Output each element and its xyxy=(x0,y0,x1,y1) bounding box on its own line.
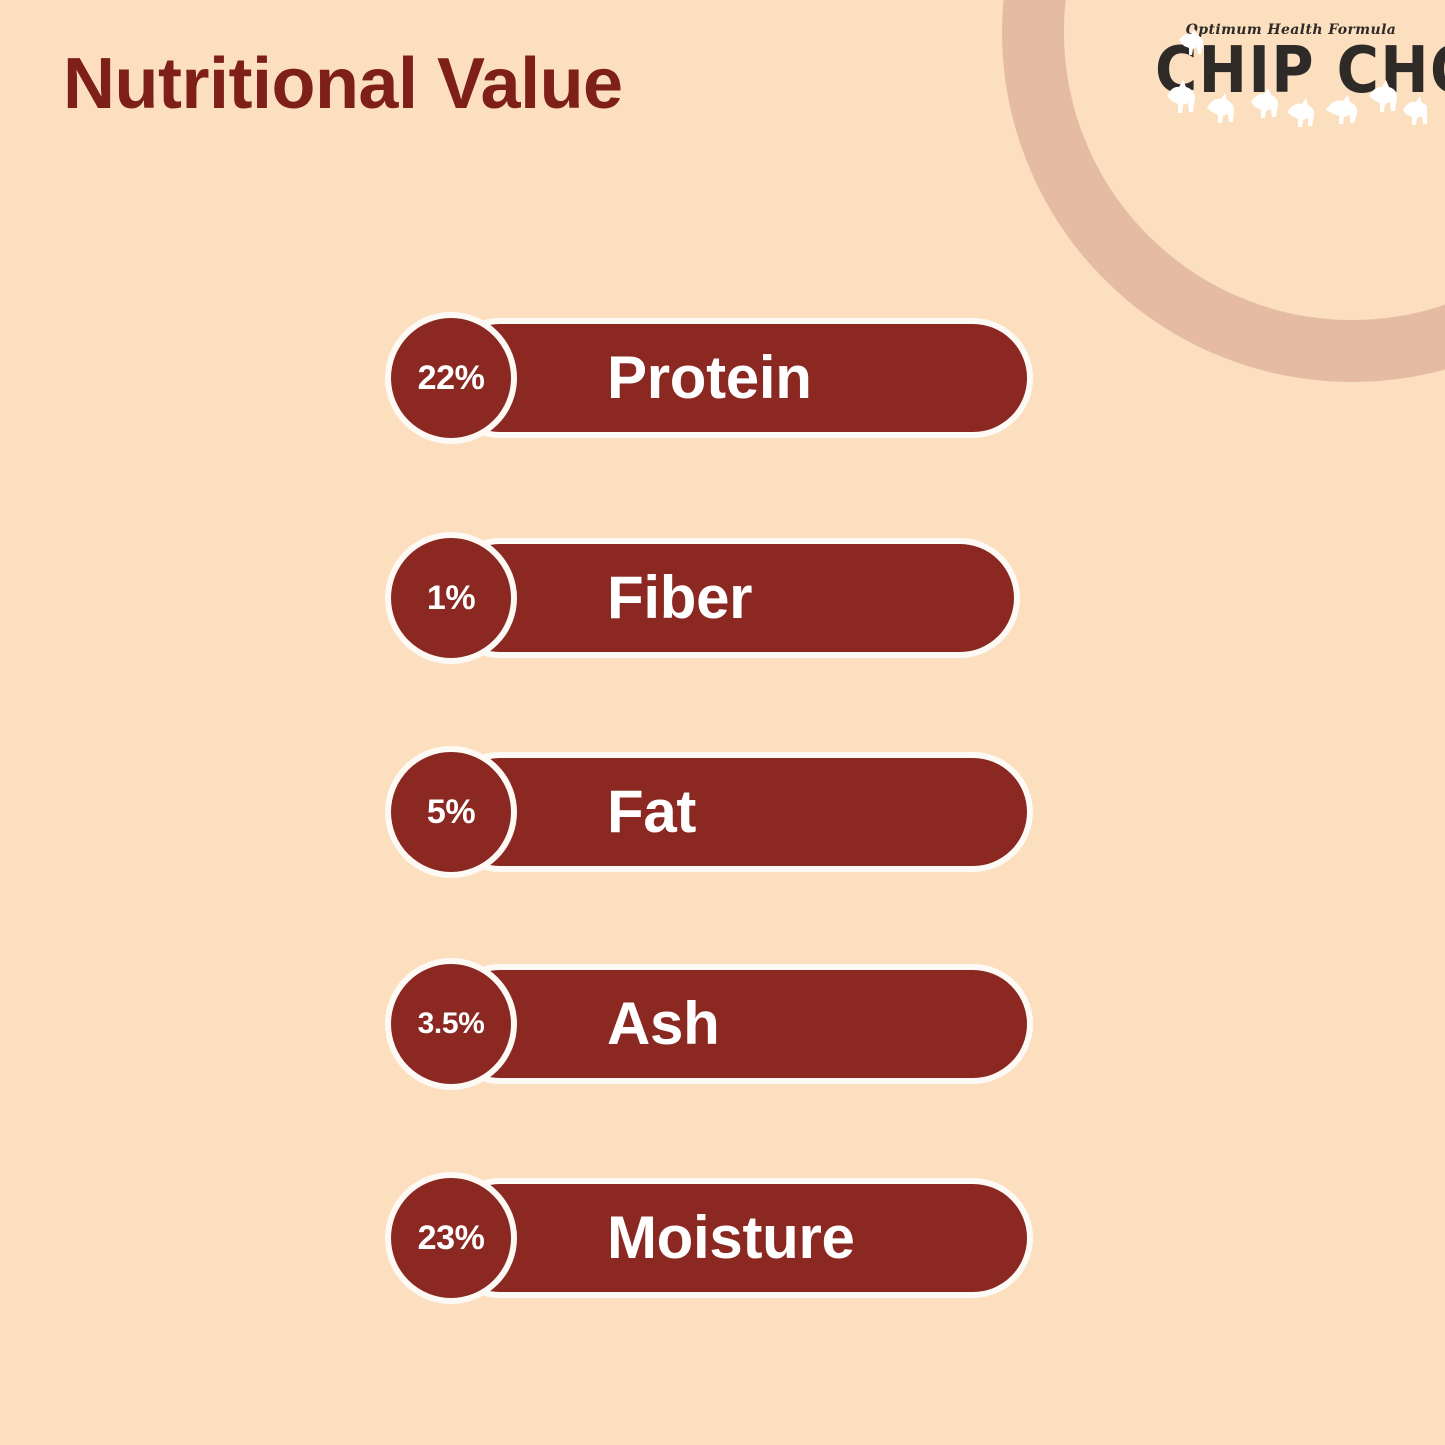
nutrient-label-fat: Fat xyxy=(607,782,696,842)
nutrient-pill-fat: Fat xyxy=(440,752,1033,872)
nutrient-badge-moisture: 23% xyxy=(385,1172,517,1304)
nutrient-value-ash: 3.5% xyxy=(418,1009,485,1039)
nutrient-value-protein: 22% xyxy=(418,361,485,395)
nutrient-value-fiber: 1% xyxy=(427,581,475,615)
nutrient-label-fiber: Fiber xyxy=(607,568,752,628)
nutrient-label-ash: Ash xyxy=(607,994,719,1054)
nutrient-badge-protein: 22% xyxy=(385,312,517,444)
nutrient-pill-fiber: Fiber xyxy=(440,538,1020,658)
nutrient-value-moisture: 23% xyxy=(418,1221,485,1255)
nutrient-value-fat: 5% xyxy=(427,795,475,829)
nutrient-label-protein: Protein xyxy=(607,348,812,408)
nutrient-badge-fiber: 1% xyxy=(385,532,517,664)
nutrient-badge-ash: 3.5% xyxy=(385,958,517,1090)
infographic-canvas: Nutritional Value Optimum Health Formula… xyxy=(0,0,1445,1445)
nutrient-list: Protein 22% Fiber 1% Fat 5% Ash xyxy=(0,0,1445,1445)
nutrient-pill-moisture: Moisture xyxy=(440,1178,1033,1298)
nutrient-badge-fat: 5% xyxy=(385,746,517,878)
nutrient-pill-protein: Protein xyxy=(440,318,1033,438)
nutrient-label-moisture: Moisture xyxy=(607,1208,855,1268)
nutrient-pill-ash: Ash xyxy=(440,964,1033,1084)
